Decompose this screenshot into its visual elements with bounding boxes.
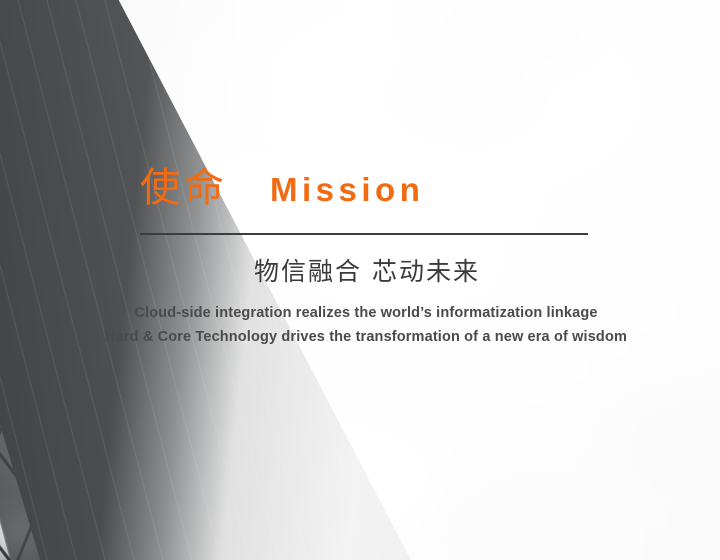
mission-banner: 使命 Mission 物信融合 芯动未来 Cloud-side integrat… — [0, 0, 720, 560]
subtitle-chinese: 物信融合 芯动未来 — [0, 257, 720, 287]
tagline-block: Cloud-side integration realizes the worl… — [0, 301, 720, 349]
page-title: 使命 Mission — [140, 168, 424, 208]
title-divider-rule — [140, 233, 588, 235]
title-english: Mission — [270, 173, 424, 206]
banner-content: 使命 Mission 物信融合 芯动未来 Cloud-side integrat… — [0, 0, 720, 560]
tagline-line-2: Hard & Core Technology drives the transf… — [12, 325, 720, 349]
tagline-line-1: Cloud-side integration realizes the worl… — [12, 301, 720, 325]
title-chinese: 使命 — [140, 168, 228, 208]
